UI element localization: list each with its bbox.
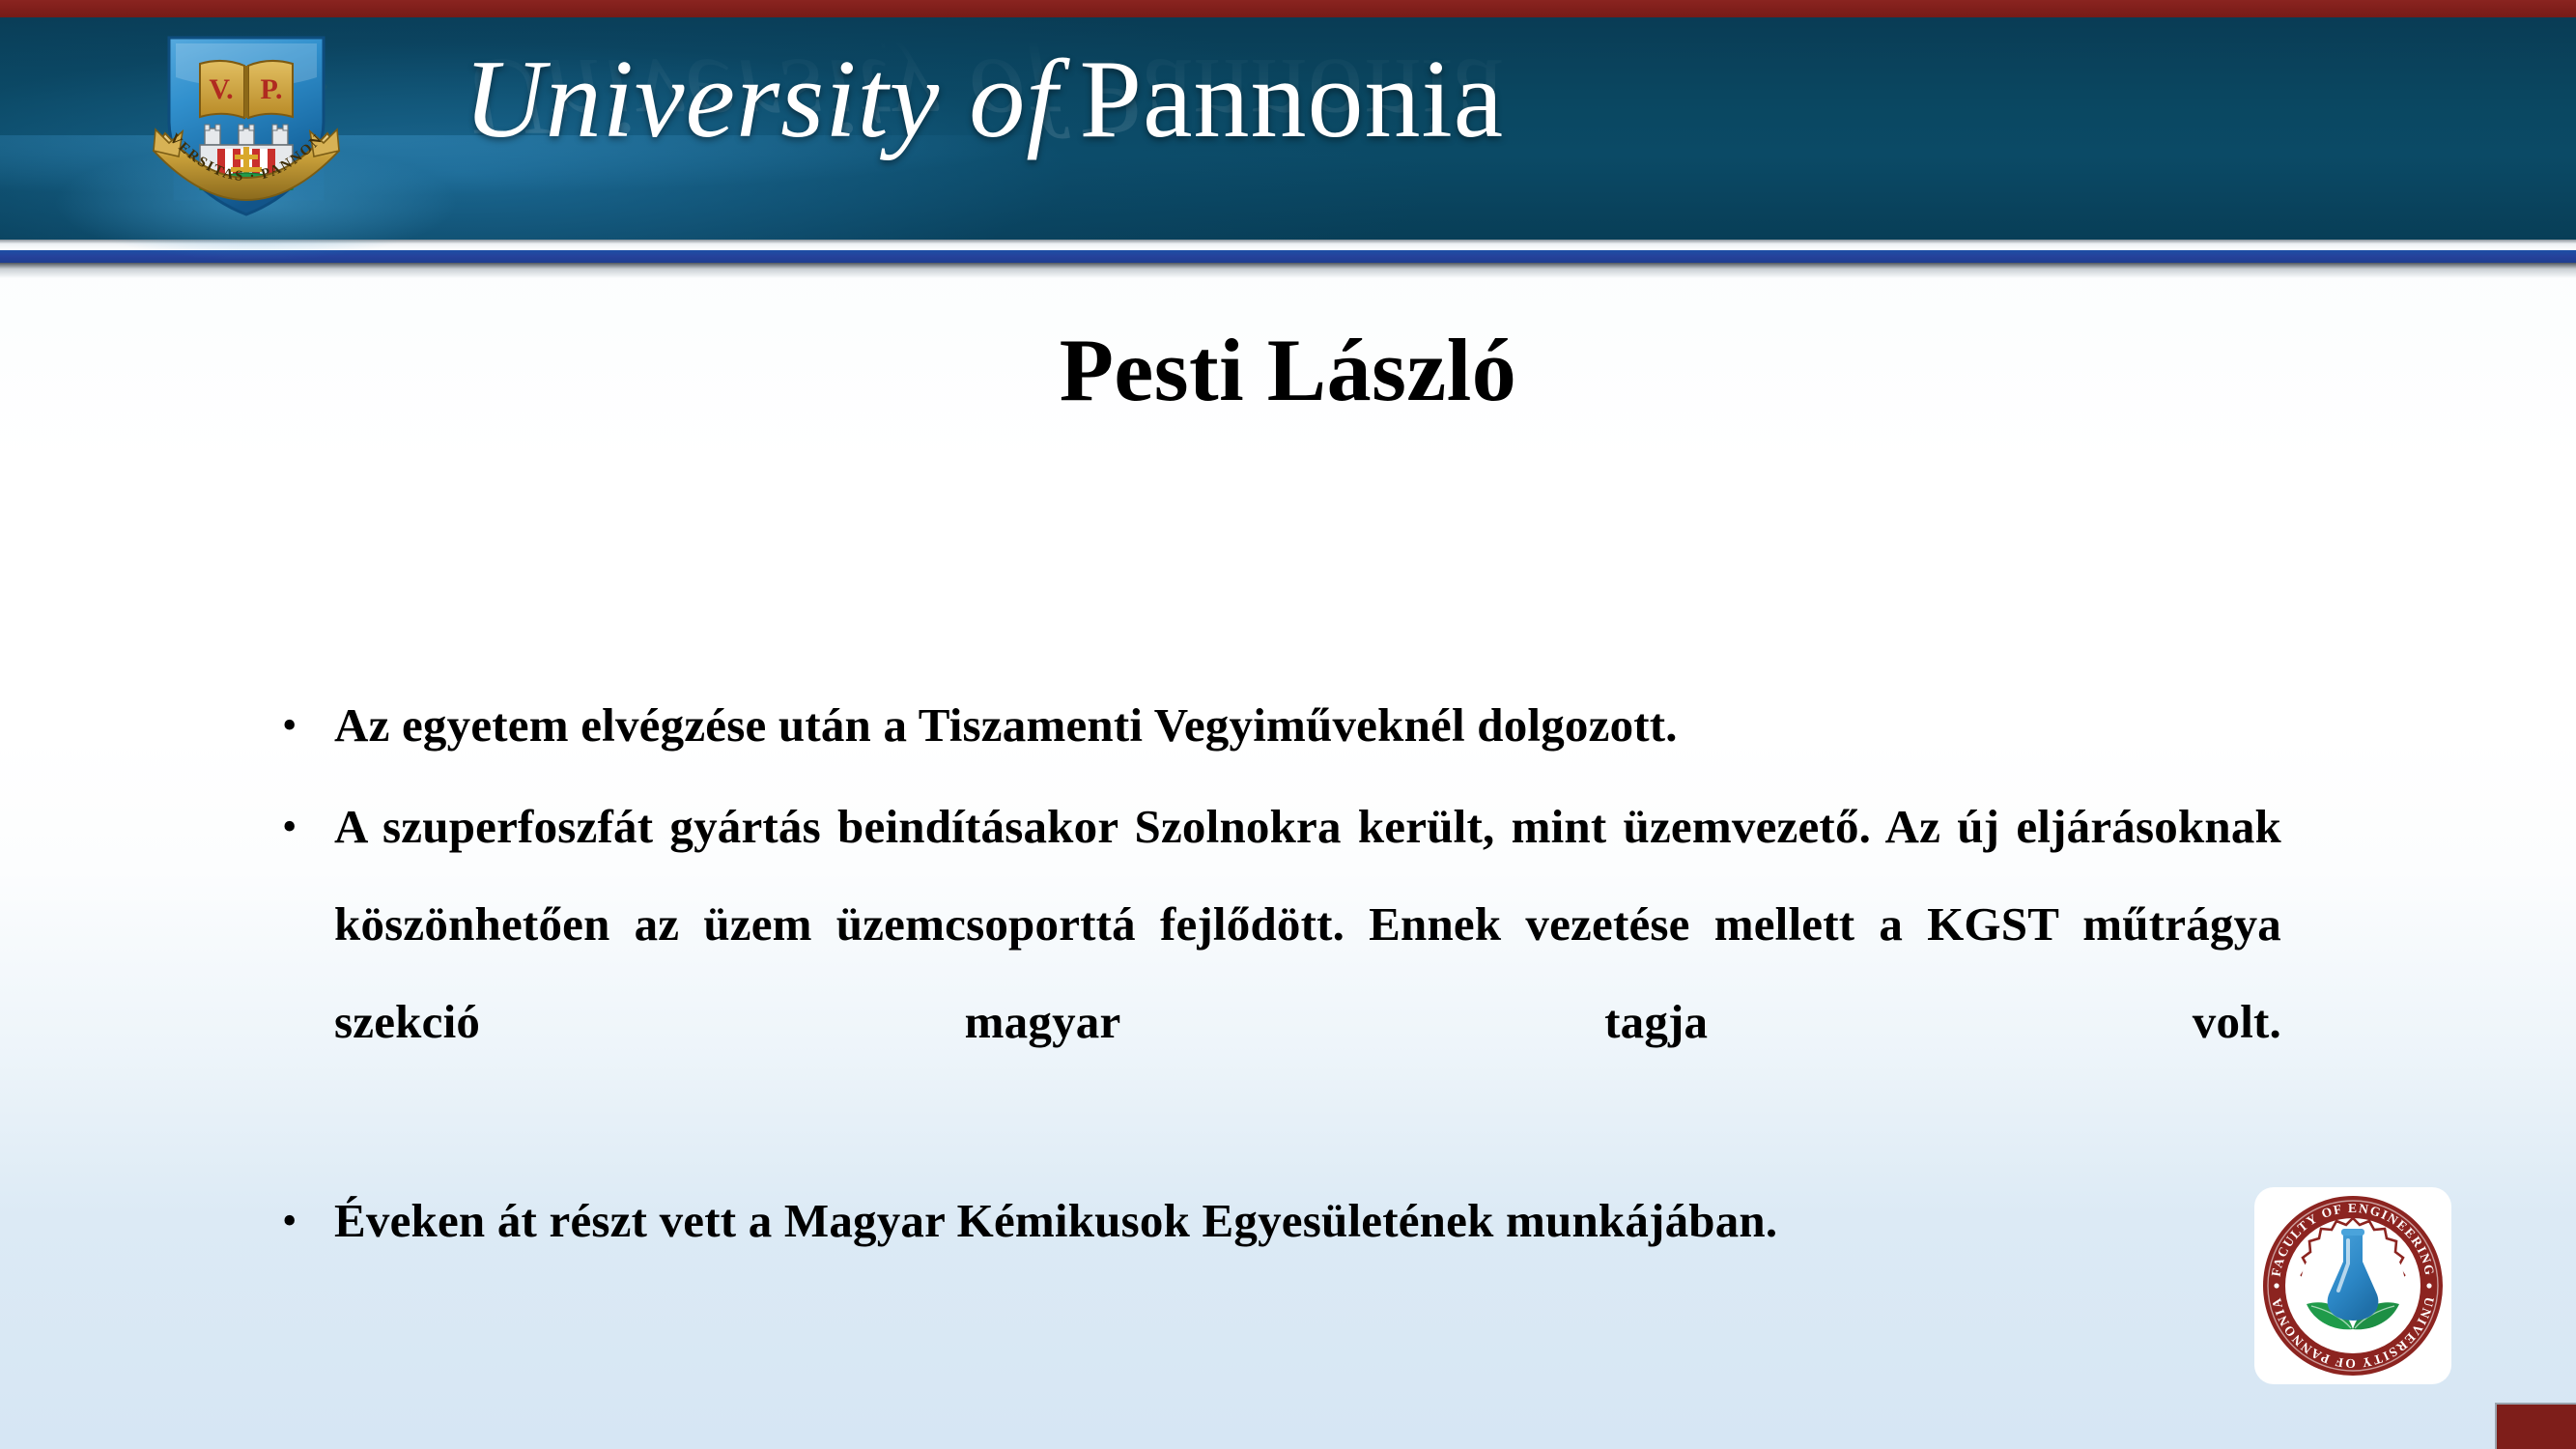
page-title: Pesti László <box>0 319 2576 421</box>
bullet-text: Az egyetem elvégzése után a Tiszamenti V… <box>334 676 2281 774</box>
shield-book: V. P. <box>200 61 293 118</box>
header-divider-blue <box>0 250 2576 263</box>
bullet-marker-icon: • <box>274 676 334 774</box>
bullet-text: A szuperfoszfát gyártás beindításakor Sz… <box>334 778 2281 1168</box>
bullet-marker-icon: • <box>274 1172 334 1269</box>
presentation-slide: University ofPannonia University ofPanno… <box>0 0 2576 1449</box>
svg-text:P.: P. <box>260 73 282 105</box>
wordmark-roman-part: Pannonia <box>1079 38 1504 161</box>
svg-text:V.: V. <box>209 73 233 105</box>
bullet-text: Éveken át részt vett a Magyar Kémikusok … <box>334 1172 2281 1269</box>
slide-bullet-list: • Az egyetem elvégzése után a Tiszamenti… <box>274 676 2281 1273</box>
university-wordmark: University ofPannonia <box>464 27 1504 172</box>
header-top-red-bar <box>0 0 2576 17</box>
university-shield-logo: V. P. <box>150 29 343 222</box>
university-header-banner: University ofPannonia University ofPanno… <box>0 0 2576 240</box>
wordmark-italic-part: University of <box>464 38 1058 161</box>
list-item: • Éveken át részt vett a Magyar Kémikuso… <box>274 1172 2281 1269</box>
list-item: • A szuperfoszfát gyártás beindításakor … <box>274 778 2281 1168</box>
bullet-marker-icon: • <box>274 778 334 875</box>
bottom-right-red-block <box>2495 1403 2576 1449</box>
header-divider-shadow <box>0 263 2576 278</box>
faculty-of-engineering-seal: FACULTY OF ENGINEERING UNIVERSITY OF PAN… <box>2253 1186 2452 1385</box>
header-divider-white <box>0 240 2576 250</box>
list-item: • Az egyetem elvégzése után a Tiszamenti… <box>274 676 2281 774</box>
